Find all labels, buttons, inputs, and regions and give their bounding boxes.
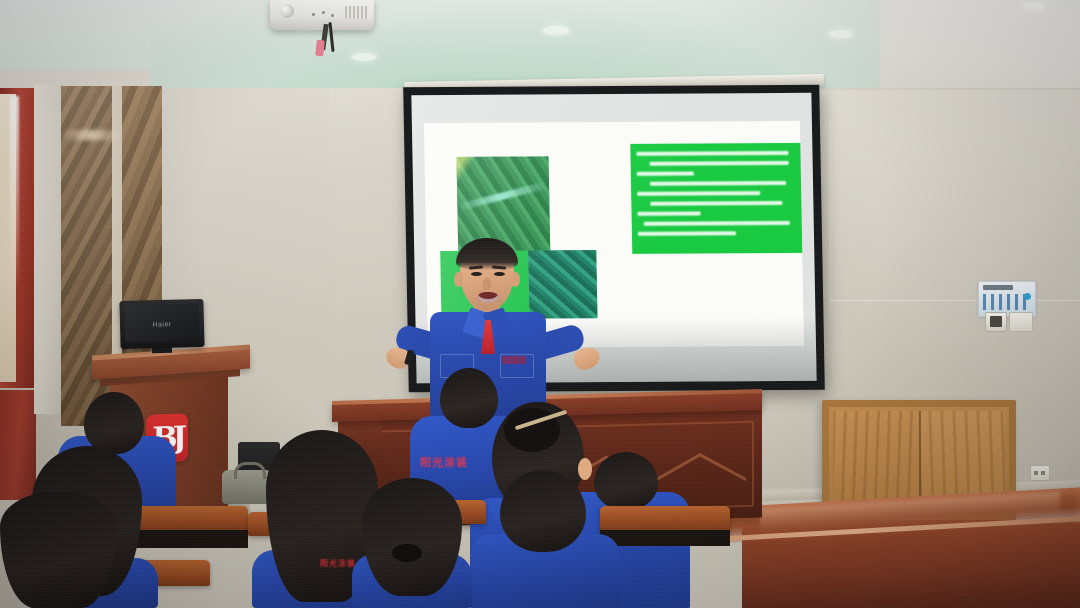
slide-text-line (638, 211, 701, 215)
lectern-monitor[interactable]: Haier (119, 299, 204, 349)
projector-button[interactable] (322, 11, 325, 14)
slide-text-line (637, 172, 694, 176)
outlet-slot (1034, 471, 1038, 475)
photo-scene: 清洁生产措施 (0, 0, 1080, 608)
recessed-ceiling-light (1023, 2, 1045, 10)
slide-text-line (644, 221, 789, 226)
list-item (470, 470, 620, 608)
attendee-head (362, 478, 462, 596)
recessed-ceiling-light (352, 53, 376, 61)
slide-text-line (650, 181, 786, 186)
projector-lens-icon (280, 4, 294, 18)
attendee-head (500, 470, 586, 552)
wall-plate[interactable] (1009, 312, 1033, 332)
presenter-ear-left (454, 272, 463, 287)
wall-pillar (34, 84, 64, 414)
power-outlet (1030, 465, 1050, 481)
monitor-brand-label: Haier (152, 321, 171, 329)
window-light-glare (10, 96, 19, 291)
presenter-chest-badge (502, 356, 526, 364)
list-item (352, 478, 472, 608)
light-switch-toggle[interactable] (990, 316, 1002, 327)
slide-text-box (630, 143, 802, 254)
wall-panel-status-dot (1024, 293, 1031, 300)
list-item (0, 492, 120, 608)
slide-text-line (649, 161, 788, 166)
presenter-mouth (478, 292, 498, 303)
presenter-eye-right (494, 272, 505, 276)
recessed-ceiling-light (829, 30, 853, 38)
marble-panel-glare (61, 130, 121, 140)
outlet-slot (1041, 471, 1045, 475)
projector-vent (345, 6, 369, 19)
uniform-back-text: 阳光涂装 (420, 454, 468, 470)
slide-text-line (636, 151, 788, 156)
projector-button[interactable] (331, 14, 334, 17)
wall-tile-seam (830, 120, 831, 320)
light-switch[interactable] (985, 312, 1007, 332)
slide-text-line (650, 201, 783, 206)
presenter-eye-left (471, 272, 482, 276)
projector-tag (315, 40, 325, 57)
attendee-head (0, 492, 116, 608)
presenter-nose (483, 278, 491, 290)
hair-tie-icon (392, 544, 422, 562)
slide-text-line (637, 191, 760, 196)
projector-button[interactable] (312, 13, 315, 16)
slide-text-line (638, 231, 736, 236)
ceiling-right-section (880, 0, 1080, 100)
wall-tile-seam (830, 300, 1080, 301)
uniform-back-text: 阳光涂装 (320, 558, 356, 569)
presenter-hair (456, 238, 518, 270)
recessed-ceiling-light (543, 26, 569, 35)
attendee-head (84, 392, 144, 454)
presenter-ear-right (511, 272, 520, 287)
wall-panel-header (983, 285, 1013, 290)
